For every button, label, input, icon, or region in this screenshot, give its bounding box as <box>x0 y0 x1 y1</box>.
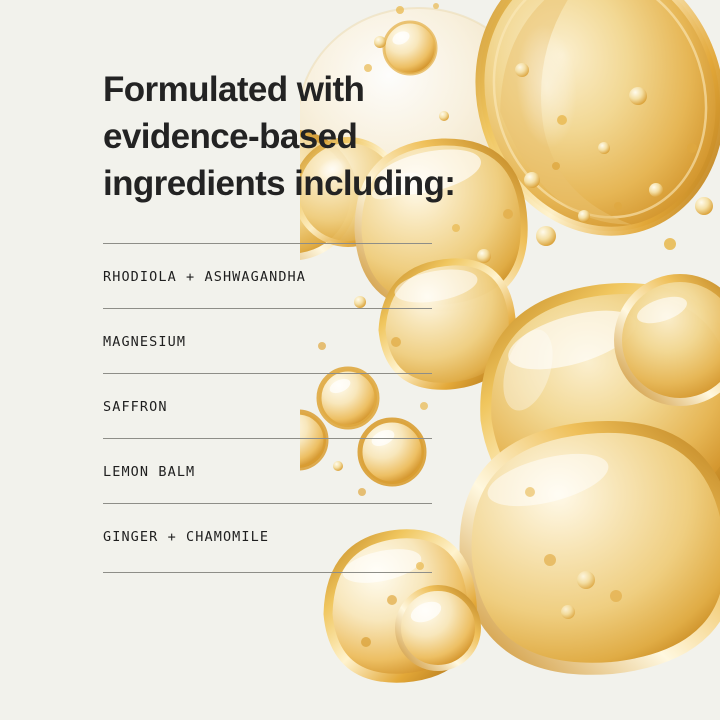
page-title: Formulated with evidence-based ingredien… <box>103 66 463 207</box>
promo-card: Formulated with evidence-based ingredien… <box>0 0 720 720</box>
list-item: GINGER + CHAMOMILE <box>103 503 432 568</box>
bubble-giant-right-lower <box>466 427 720 669</box>
bubble-top-right-large <box>445 0 720 263</box>
list-item: MAGNESIUM <box>103 308 432 373</box>
ingredient-label: SAFFRON <box>103 397 168 415</box>
bubble-giant-right-upper <box>486 278 720 518</box>
list-item: RHODIOLA + ASHWAGANDHA <box>103 243 432 308</box>
ingredient-label: LEMON BALM <box>103 462 195 480</box>
content-column: Formulated with evidence-based ingredien… <box>0 0 470 720</box>
list-bottom-divider <box>103 572 432 573</box>
ingredient-label: GINGER + CHAMOMILE <box>103 527 269 545</box>
list-item: LEMON BALM <box>103 438 432 503</box>
ingredient-label: MAGNESIUM <box>103 332 186 350</box>
ingredient-list: RHODIOLA + ASHWAGANDHA MAGNESIUM SAFFRON… <box>103 243 432 568</box>
list-item: SAFFRON <box>103 373 432 438</box>
ingredient-label: RHODIOLA + ASHWAGANDHA <box>103 267 306 285</box>
